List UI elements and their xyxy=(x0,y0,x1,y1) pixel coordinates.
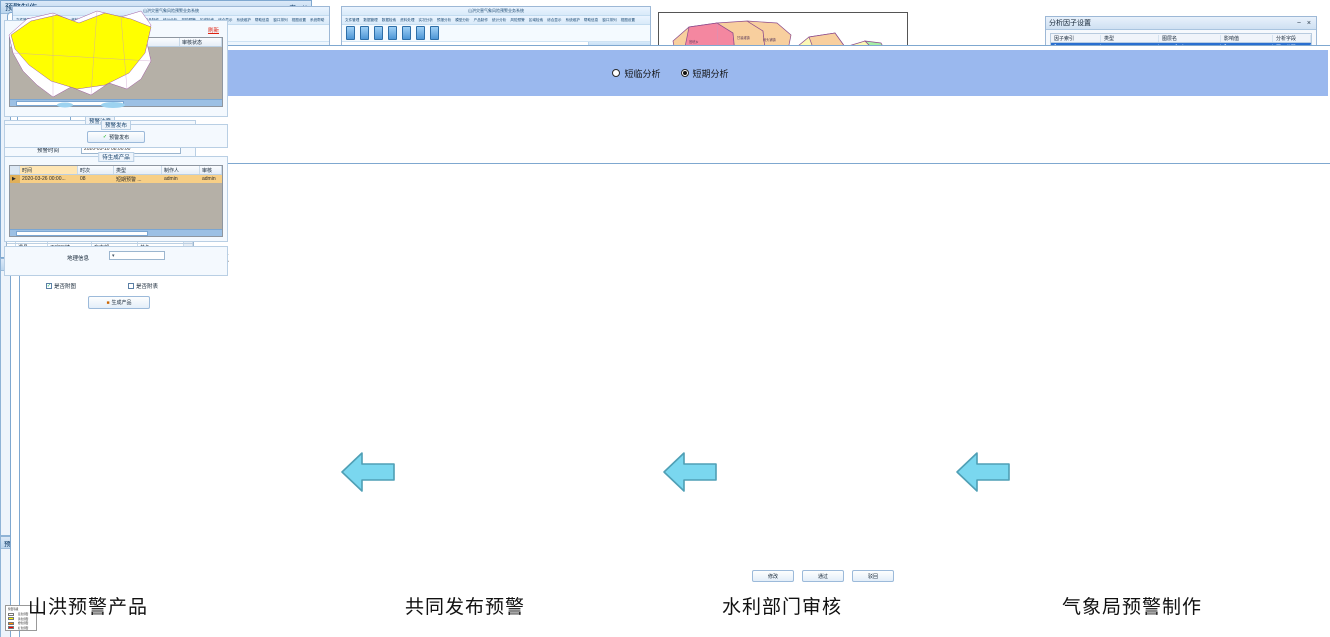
col-header: 类型 xyxy=(114,166,162,174)
col-header: 类型 xyxy=(1101,35,1159,42)
menu-item[interactable]: 数据检索 xyxy=(382,18,396,23)
legend-swatch xyxy=(8,617,14,620)
checkbox-indicator: ✓ xyxy=(46,283,52,289)
menu-item[interactable]: 帮助信息 xyxy=(584,18,598,23)
cell: 短期预警 ... xyxy=(114,175,162,183)
menu-item[interactable]: 系统帮助 xyxy=(310,18,324,23)
menu-item[interactable]: 视图设置 xyxy=(621,18,635,23)
minimize-icon[interactable]: − xyxy=(1297,20,1303,27)
arrow-left-2 xyxy=(662,450,718,494)
release-button[interactable]: ✓ 预警发布 xyxy=(87,131,145,143)
pending-grid-hscrollbar[interactable] xyxy=(10,229,222,236)
checkbox-label: 是否附图 xyxy=(54,282,76,290)
legend-label: 橙色预警 xyxy=(18,621,28,625)
geo-info-label: 地理信息 xyxy=(67,254,89,262)
pending-products-caption: 待生成产品 xyxy=(98,152,134,162)
close-icon[interactable]: × xyxy=(1307,20,1313,27)
radio-indicator xyxy=(612,69,620,77)
flowchart-poster: 山洪灾害气象风险预警业务系统 文件管理 数据管理 数据检索 资料处理 实况分析 … xyxy=(0,0,1330,637)
menu-item[interactable]: 实况分析 xyxy=(419,18,433,23)
approve-button[interactable]: 通过 xyxy=(802,570,844,582)
arrow-left-3 xyxy=(340,450,396,494)
arrow-left-icon xyxy=(340,450,396,494)
make-product-button[interactable]: ■ 生成产品 xyxy=(88,296,150,309)
menu-item[interactable]: 区域检索 xyxy=(529,18,543,23)
legend-item: 红色预警 xyxy=(8,626,34,630)
gis2-toolbar[interactable] xyxy=(342,25,650,42)
cell: 08 xyxy=(78,175,114,183)
pending-products-grid[interactable]: 时间 时次 类型 制作人 审核 ▶ 2020-03-26 00:00... 08… xyxy=(9,165,223,237)
param-dialog-title: 分析因子设置 xyxy=(1049,18,1297,28)
col-header: 制作人 xyxy=(162,166,200,174)
radio-label: 短临分析 xyxy=(624,67,660,80)
reject-button[interactable]: 驳回 xyxy=(852,570,894,582)
toolbar-icon[interactable] xyxy=(346,26,355,40)
geo-info-row: 地理信息 xyxy=(4,246,228,276)
svg-text:甘溪滩镇: 甘溪滩镇 xyxy=(737,35,751,40)
gis2-window-title: 山洪灾害气象风险预警业务系统 xyxy=(468,8,524,14)
legend-label: 蓝色预警 xyxy=(18,612,28,616)
arrow-left-1 xyxy=(955,450,1011,494)
check-icon: ✓ xyxy=(103,134,107,140)
col-header: 图层名 xyxy=(1159,35,1221,42)
radio-indicator xyxy=(681,69,689,77)
geo-info-select[interactable] xyxy=(109,251,165,260)
row-selector-col xyxy=(10,166,20,174)
legend-label: 黄色预警 xyxy=(18,617,28,621)
menu-item[interactable]: 系统维护 xyxy=(566,18,580,23)
toolbar-icon[interactable] xyxy=(374,26,383,40)
menu-item[interactable]: 风险预警 xyxy=(510,18,524,23)
radio-nowcast-analysis[interactable]: 短临分析 xyxy=(612,67,660,80)
row-marker: ▶ xyxy=(10,175,20,183)
pending-grid-header: 时间 时次 类型 制作人 审核 xyxy=(10,166,222,175)
caption-bottom-2: 共同发布预警 xyxy=(405,592,525,619)
legend-swatch xyxy=(8,626,14,629)
release-checkboxes[interactable]: ✓ 是否附图 是否附表 xyxy=(46,282,158,290)
gis2-menu-items[interactable]: 文件管理 数据管理 数据检索 资料处理 实况分析 预报分析 模型分析 产品制作 … xyxy=(342,16,650,25)
pending-products-group: 待生成产品 时间 时次 类型 制作人 审核 ▶ 2020-03-26 00:00… xyxy=(4,156,228,242)
menu-item[interactable]: 产品制作 xyxy=(474,18,488,23)
menu-item[interactable]: 帮助信息 xyxy=(255,18,269,23)
menu-item[interactable]: 窗口排列 xyxy=(273,18,287,23)
review-action-buttons[interactable]: 修改 通过 驳回 xyxy=(752,570,894,582)
toolbar-icon[interactable] xyxy=(430,26,439,40)
toolbar-icon[interactable] xyxy=(360,26,369,40)
col-header: 因子索引 xyxy=(1051,35,1101,42)
legend-swatch xyxy=(8,613,14,616)
menu-item[interactable]: 综合显示 xyxy=(547,18,561,23)
menu-item[interactable]: 数据管理 xyxy=(363,18,377,23)
arrow-left-icon xyxy=(955,450,1011,494)
scrollbar-thumb[interactable] xyxy=(16,231,148,236)
checkbox-indicator xyxy=(128,283,134,289)
product-icon: ■ xyxy=(106,300,109,306)
menu-item[interactable]: 预报分析 xyxy=(437,18,451,23)
modify-button[interactable]: 修改 xyxy=(752,570,794,582)
svg-text:码头铺镇: 码头铺镇 xyxy=(763,37,777,42)
menu-item[interactable]: 统计分析 xyxy=(492,18,506,23)
attach-map-checkbox[interactable]: ✓ 是否附图 xyxy=(46,282,76,290)
gis2-titlebar: 山洪灾害气象风险预警业务系统 xyxy=(342,7,650,16)
legend-swatch xyxy=(8,622,14,625)
factor-grid-header: 因子索引 类型 图层名 影响值 分析字段 xyxy=(1051,34,1311,43)
attach-table-checkbox[interactable]: 是否附表 xyxy=(128,282,158,290)
col-header: 审核 xyxy=(200,166,222,174)
toolbar-icon[interactable] xyxy=(416,26,425,40)
cell: admin xyxy=(162,175,200,183)
warning-map-2 xyxy=(1,1,157,127)
cell: 2020-03-26 00:00... xyxy=(20,175,78,183)
col-header: 时次 xyxy=(78,166,114,174)
make-product-label: 生成产品 xyxy=(112,299,132,306)
legend-label: 红色预警 xyxy=(18,626,28,630)
refresh-link[interactable]: 刷新 xyxy=(208,26,219,34)
toolbar-icon[interactable] xyxy=(388,26,397,40)
legend-item: 橙色预警 xyxy=(8,621,34,625)
checkbox-label: 是否附表 xyxy=(136,282,158,290)
menu-item[interactable]: 资料处理 xyxy=(400,18,414,23)
menu-item[interactable]: 模型分析 xyxy=(455,18,469,23)
menu-item[interactable]: 系统维护 xyxy=(237,18,251,23)
toolbar-icon[interactable] xyxy=(402,26,411,40)
col-header: 影响值 xyxy=(1221,35,1273,42)
pending-grid-row[interactable]: ▶ 2020-03-26 00:00... 08 短期预警 ... admin … xyxy=(10,175,222,183)
cell: admin xyxy=(200,175,222,183)
menu-item[interactable]: 窗口排列 xyxy=(602,18,616,23)
menu-item[interactable]: 文件管理 xyxy=(345,18,359,23)
col-header: 分析字段 xyxy=(1273,35,1311,42)
release-group: 预警发布 ✓ 预警发布 xyxy=(4,124,228,148)
menu-item[interactable]: 视图设置 xyxy=(292,18,306,23)
caption-bottom-1: 山洪预警产品 xyxy=(28,592,148,619)
caption-bottom-3: 水利部门审核 xyxy=(722,592,842,619)
col-header: 时间 xyxy=(20,166,78,174)
arrow-left-icon xyxy=(662,450,718,494)
caption-bottom-4: 气象局预警制作 xyxy=(1062,592,1202,619)
col-header: 审核状态 xyxy=(180,38,222,46)
release-button-label: 预警发布 xyxy=(109,134,129,141)
param-dialog-titlebar: 分析因子设置 − × xyxy=(1046,17,1316,30)
radio-short-term-analysis[interactable]: 短期分析 xyxy=(681,67,729,80)
radio-label: 短期分析 xyxy=(693,67,729,80)
svg-text:官垸乡: 官垸乡 xyxy=(689,39,699,44)
